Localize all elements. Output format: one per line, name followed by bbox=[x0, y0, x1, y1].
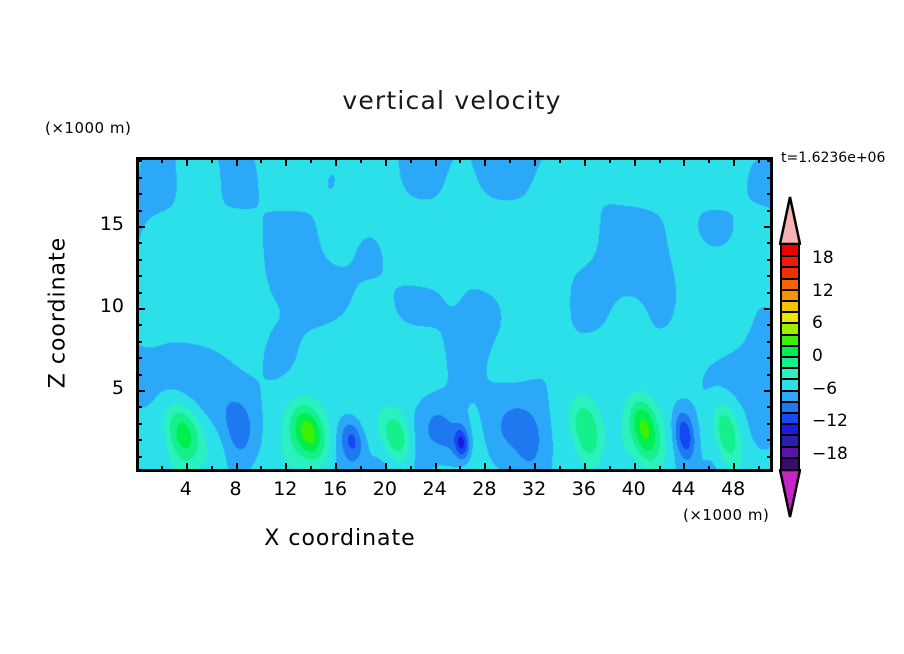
x-tick bbox=[360, 466, 362, 472]
colorbar-band-divider bbox=[782, 367, 798, 369]
colorbar-over-arrow bbox=[779, 195, 801, 249]
y-tick-right bbox=[767, 275, 773, 277]
chart-title: vertical velocity bbox=[0, 86, 904, 115]
y-tick-right bbox=[767, 292, 773, 294]
colorbar-tick-label-3: 0 bbox=[812, 346, 823, 366]
x-tick-top bbox=[410, 157, 412, 163]
colorbar-tick-label-5: −12 bbox=[812, 411, 848, 431]
y-tick-right bbox=[767, 242, 773, 244]
x-tick-top bbox=[659, 157, 661, 163]
colorbar-under-arrow bbox=[779, 469, 801, 523]
x-tick-top bbox=[509, 157, 511, 163]
y-tick-right bbox=[764, 390, 773, 392]
y-tick bbox=[136, 275, 142, 277]
y-tick bbox=[136, 456, 142, 458]
colorbar-band-0 bbox=[782, 458, 798, 469]
y-tick-right bbox=[767, 357, 773, 359]
colorbar-tick-label-6: −18 bbox=[812, 444, 848, 464]
y-tick-right bbox=[767, 210, 773, 212]
x-tick-top bbox=[683, 157, 685, 166]
x-tick-top bbox=[360, 157, 362, 163]
y-tick bbox=[136, 177, 142, 179]
y-tick bbox=[136, 341, 142, 343]
x-tick-top bbox=[161, 157, 163, 163]
y-tick-right bbox=[767, 456, 773, 458]
y-tick bbox=[136, 210, 142, 212]
x-tick-top bbox=[236, 157, 238, 166]
x-tick bbox=[161, 466, 163, 472]
colorbar-band-divider bbox=[782, 345, 798, 347]
colorbar-band-divider bbox=[782, 446, 798, 448]
x-tick bbox=[758, 466, 760, 472]
x-tick bbox=[659, 466, 661, 472]
colorbar-band-divider bbox=[782, 266, 798, 268]
colorbar-band-divider bbox=[782, 300, 798, 302]
y-tick bbox=[136, 226, 145, 228]
x-tick-top bbox=[310, 157, 312, 163]
colorbar-band-divider bbox=[782, 401, 798, 403]
y-tick bbox=[136, 259, 142, 261]
x-tick bbox=[584, 463, 586, 472]
y-tick-label-0: 5 bbox=[64, 377, 124, 399]
colorbar-band-divider bbox=[782, 255, 798, 257]
x-tick-top bbox=[484, 157, 486, 166]
y-tick-right bbox=[767, 160, 773, 162]
x-tick-top bbox=[758, 157, 760, 163]
y-tick bbox=[136, 390, 145, 392]
y-tick bbox=[136, 160, 142, 162]
z-axis-unit-label: (×1000 m) bbox=[45, 119, 131, 137]
x-axis-title: X coordinate bbox=[0, 526, 680, 551]
colorbar-tick-label-1: 12 bbox=[812, 281, 834, 301]
colorbar-tick-label-4: −6 bbox=[812, 379, 837, 399]
x-tick bbox=[634, 463, 636, 472]
x-tick-top bbox=[211, 157, 213, 163]
x-tick bbox=[186, 463, 188, 472]
x-tick bbox=[484, 463, 486, 472]
colorbar-band-divider bbox=[782, 311, 798, 313]
x-tick-top bbox=[435, 157, 437, 166]
velocity-field-canvas bbox=[139, 160, 770, 469]
colorbar-band-divider bbox=[782, 334, 798, 336]
colorbar-band-divider bbox=[782, 390, 798, 392]
x-tick-top bbox=[733, 157, 735, 166]
x-tick bbox=[260, 466, 262, 472]
y-tick-label-2: 15 bbox=[64, 213, 124, 235]
x-tick bbox=[708, 466, 710, 472]
y-tick bbox=[136, 193, 142, 195]
colorbar-tick-label-0: 18 bbox=[812, 248, 834, 268]
y-tick-right bbox=[767, 259, 773, 261]
z-axis-title: Z coordinate bbox=[46, 213, 71, 413]
contour-plot-area bbox=[136, 157, 773, 472]
colorbar-band-divider bbox=[782, 457, 798, 459]
x-tick bbox=[385, 463, 387, 472]
y-tick bbox=[136, 406, 142, 408]
y-tick bbox=[136, 357, 142, 359]
x-tick-top bbox=[584, 157, 586, 166]
y-tick-right bbox=[767, 341, 773, 343]
x-tick-top bbox=[459, 157, 461, 163]
colorbar-band-divider bbox=[782, 356, 798, 358]
y-tick bbox=[136, 439, 142, 441]
x-tick-top bbox=[260, 157, 262, 163]
x-tick-top bbox=[335, 157, 337, 166]
colorbar-band-divider bbox=[782, 322, 798, 324]
y-tick bbox=[136, 292, 142, 294]
x-tick bbox=[435, 463, 437, 472]
colorbar-band-divider bbox=[782, 378, 798, 380]
colorbar-tick-label-2: 6 bbox=[812, 313, 823, 333]
x-tick-top bbox=[559, 157, 561, 163]
x-tick-top bbox=[534, 157, 536, 166]
y-tick bbox=[136, 308, 145, 310]
y-tick-label-1: 10 bbox=[64, 295, 124, 317]
x-axis-unit-label: (×1000 m) bbox=[683, 506, 769, 524]
x-tick-top bbox=[609, 157, 611, 163]
x-tick bbox=[509, 466, 511, 472]
x-tick bbox=[559, 466, 561, 472]
y-tick-right bbox=[767, 374, 773, 376]
y-tick-right bbox=[767, 324, 773, 326]
x-tick bbox=[310, 466, 312, 472]
x-tick bbox=[211, 466, 213, 472]
y-tick bbox=[136, 242, 142, 244]
x-tick-top bbox=[186, 157, 188, 166]
colorbar-band-divider bbox=[782, 423, 798, 425]
colorbar-band-divider bbox=[782, 278, 798, 280]
x-tick bbox=[236, 463, 238, 472]
x-tick bbox=[410, 466, 412, 472]
y-tick-right bbox=[767, 177, 773, 179]
x-tick bbox=[285, 463, 287, 472]
colorbar-band-divider bbox=[782, 289, 798, 291]
y-tick-right bbox=[764, 226, 773, 228]
y-tick bbox=[136, 374, 142, 376]
x-tick-top bbox=[708, 157, 710, 163]
y-tick bbox=[136, 324, 142, 326]
x-tick-top bbox=[634, 157, 636, 166]
y-tick-right bbox=[767, 423, 773, 425]
y-tick-right bbox=[767, 439, 773, 441]
x-tick bbox=[609, 466, 611, 472]
x-tick-label-11: 48 bbox=[703, 478, 763, 500]
x-tick bbox=[683, 463, 685, 472]
x-tick bbox=[534, 463, 536, 472]
x-tick bbox=[335, 463, 337, 472]
x-tick-top bbox=[385, 157, 387, 166]
x-tick bbox=[459, 466, 461, 472]
y-tick-right bbox=[767, 193, 773, 195]
time-label: t=1.6236e+06 bbox=[781, 150, 885, 166]
x-tick-top bbox=[285, 157, 287, 166]
y-tick-right bbox=[764, 308, 773, 310]
colorbar-band-divider bbox=[782, 434, 798, 436]
x-tick bbox=[733, 463, 735, 472]
y-tick bbox=[136, 423, 142, 425]
y-tick-right bbox=[767, 406, 773, 408]
colorbar bbox=[780, 243, 800, 471]
colorbar-band-divider bbox=[782, 412, 798, 414]
